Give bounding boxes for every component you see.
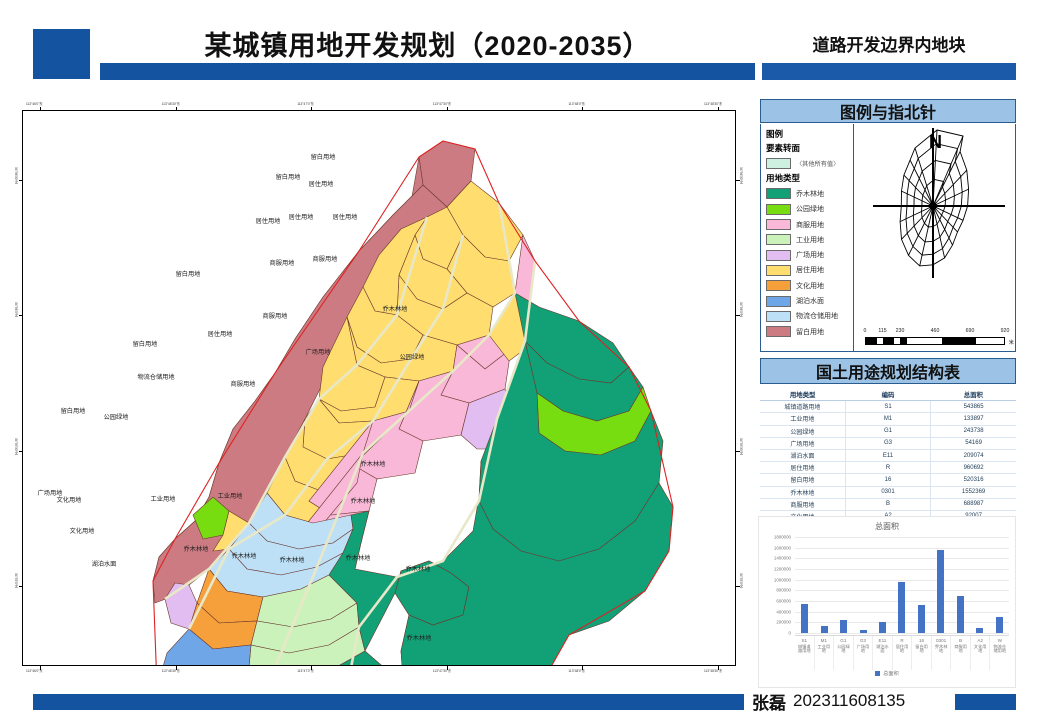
chart-xname: 物流仓储用地 bbox=[990, 645, 1009, 654]
chart-bar bbox=[879, 622, 886, 633]
chart-ytick-1: 1600000 bbox=[774, 545, 791, 550]
chart-xlabel-G3: G3广场用地 bbox=[854, 636, 874, 670]
grid-label-lon: 113°48'30"东 bbox=[704, 668, 722, 673]
scale-tick-labels: 0115230460690920 bbox=[865, 328, 1005, 337]
map-parcel-label: 商服用地 bbox=[263, 312, 288, 320]
grid-label-lon: 113°48'0"东 bbox=[568, 101, 585, 106]
chart-plot-area bbox=[795, 537, 1009, 633]
table-cell: G3 bbox=[845, 437, 930, 449]
map-parcel-label: 居住用地 bbox=[289, 213, 314, 221]
header-subtitle-bar bbox=[762, 63, 1016, 80]
chart-ytick-8: 200000 bbox=[776, 620, 791, 625]
chart-xcode: G1 bbox=[834, 638, 853, 643]
legend-label-1: 公园绿地 bbox=[796, 204, 824, 214]
chart-xlabel-B: B商服用地 bbox=[951, 636, 971, 670]
map-parcel-label: 文化用地 bbox=[57, 496, 82, 504]
legend-swatch-0 bbox=[766, 188, 791, 199]
map-parcel-label: 居住用地 bbox=[309, 180, 334, 188]
table-cell: 0301 bbox=[845, 486, 930, 498]
chart-bar bbox=[821, 626, 828, 633]
chart-ytick-0: 1800000 bbox=[774, 535, 791, 540]
scale-tick-3: 460 bbox=[931, 328, 940, 334]
chart-bar bbox=[801, 604, 808, 633]
table-cell: 209074 bbox=[931, 449, 1016, 461]
map-parcel-label: 文化用地 bbox=[70, 527, 95, 535]
footer-bar-right bbox=[955, 694, 1016, 710]
grid-label-lon: 113°46'30"东 bbox=[162, 101, 180, 106]
chart-xname: 乔木林地 bbox=[932, 645, 951, 654]
map-parcel-label: 留白用地 bbox=[276, 173, 301, 181]
chart-column-S1 bbox=[795, 537, 814, 633]
table-row: 工业用地M1133897 bbox=[760, 413, 1016, 425]
table-cell: 工业用地 bbox=[760, 413, 845, 425]
scale-tick-4: 690 bbox=[966, 328, 975, 334]
total-area-chart: 总面积 180000016000001400000120000010000008… bbox=[758, 516, 1016, 688]
chart-ytick-6: 600000 bbox=[776, 599, 791, 604]
table-body: 城镇道路用地S1543865工业用地M1133897公园绿地G1243738广场… bbox=[760, 401, 1016, 535]
legend-panel: 图例 要素转面 〈其他所有值〉 用地类型 乔木林地公园绿地商服用地工业用地广场用… bbox=[760, 124, 1016, 352]
grid-label-lat: 34°55'30"北 bbox=[739, 438, 744, 455]
chart-xcode: M1 bbox=[815, 638, 834, 643]
legend-label-3: 工业用地 bbox=[796, 235, 824, 245]
chart-bar bbox=[996, 617, 1003, 633]
table-row: 湖泊水面E11209074 bbox=[760, 449, 1016, 461]
map-parcel-label: 广场用地 bbox=[306, 348, 331, 356]
scale-tick-2: 230 bbox=[896, 328, 905, 334]
legend-item-4: 广场用地 bbox=[765, 247, 853, 262]
table-cell: 乔木林地 bbox=[760, 486, 845, 498]
chart-xname: 湖泊水面 bbox=[873, 645, 892, 654]
map-parcel-label: 乔木林地 bbox=[383, 305, 408, 313]
chart-legend-label: 总面积 bbox=[883, 670, 899, 677]
chart-xcode: S1 bbox=[795, 638, 814, 643]
legend-label-2: 商服用地 bbox=[796, 220, 824, 230]
chart-xlabel-E11: E11湖泊水面 bbox=[873, 636, 893, 670]
table-cell: S1 bbox=[845, 401, 930, 413]
chart-xname: 商服用地 bbox=[951, 645, 970, 654]
grid-label-lon: 113°47'30"东 bbox=[433, 668, 451, 673]
legend-swatch-4 bbox=[766, 250, 791, 261]
map-parcel-label: 留白用地 bbox=[311, 153, 336, 161]
chart-xcode: G3 bbox=[854, 638, 873, 643]
legend-item-5: 居住用地 bbox=[765, 263, 853, 278]
chart-xname: 工业用地 bbox=[815, 645, 834, 654]
scale-tick-0: 0 bbox=[864, 328, 867, 334]
structure-table: 用地类型编码总面积 城镇道路用地S1543865工业用地M1133897公园绿地… bbox=[760, 388, 1016, 535]
table-cell: 243738 bbox=[931, 425, 1016, 437]
chart-xlabel-G1: G1公园绿地 bbox=[834, 636, 854, 670]
table-row: 居住用地R960692 bbox=[760, 462, 1016, 474]
chart-ytick-2: 1400000 bbox=[774, 556, 791, 561]
chart-xlabel-0301: 0301乔木林地 bbox=[932, 636, 952, 670]
feature-heading: 要素转面 bbox=[766, 142, 853, 154]
legend-item-0: 乔木林地 bbox=[765, 186, 853, 201]
author-name: 张磊 bbox=[752, 689, 786, 714]
chart-xcode: B bbox=[951, 638, 970, 643]
legend-label-other: 〈其他所有值〉 bbox=[796, 159, 839, 168]
table-cell: 688987 bbox=[931, 498, 1016, 510]
table-cell: 520316 bbox=[931, 474, 1016, 486]
chart-column-B bbox=[951, 537, 970, 633]
table-cell: 居住用地 bbox=[760, 462, 845, 474]
legend-swatch-2 bbox=[766, 219, 791, 230]
map-parcel-label: 公园绿地 bbox=[400, 353, 425, 361]
chart-x-axis-labels: S1城镇道路用地M1工业用地G1公园绿地G3广场用地E11湖泊水面R居住用地16… bbox=[795, 635, 1009, 670]
legend-swatch-3 bbox=[766, 234, 791, 245]
chart-legend: 总面积 bbox=[759, 670, 1015, 677]
table-cell: B bbox=[845, 498, 930, 510]
chart-xlabel-W: W物流仓储用地 bbox=[990, 636, 1009, 670]
map-parcel-label: 居住用地 bbox=[256, 217, 281, 225]
grid-label-lon: 113°48'30"东 bbox=[704, 101, 722, 106]
table-cell: R bbox=[845, 462, 930, 474]
chart-xlabel-M1: M1工业用地 bbox=[815, 636, 835, 670]
grid-label-lon: 113°46'0"东 bbox=[26, 101, 43, 106]
chart-bar bbox=[860, 630, 867, 633]
table-row: 留白用地16520316 bbox=[760, 474, 1016, 486]
table-cell: 公园绿地 bbox=[760, 425, 845, 437]
table-cell: 城镇道路用地 bbox=[760, 401, 845, 413]
legend-swatch-other bbox=[766, 158, 791, 169]
chart-bar bbox=[840, 620, 847, 633]
map-parcel-label: 商服用地 bbox=[313, 255, 338, 263]
map-parcel-label: 乔木林地 bbox=[407, 634, 432, 642]
legend-heading: 图例 bbox=[766, 128, 853, 140]
scale-tick-5: 920 bbox=[1001, 328, 1010, 334]
chart-column-W bbox=[990, 537, 1009, 633]
legend-item-7: 湖泊水面 bbox=[765, 293, 853, 308]
chart-y-axis-labels: 1800000160000014000001200000100000080000… bbox=[759, 537, 793, 633]
chart-xcode: R bbox=[893, 638, 912, 643]
chart-ytick-4: 1000000 bbox=[774, 577, 791, 582]
legend-swatch-5 bbox=[766, 265, 791, 276]
chart-bar bbox=[898, 582, 905, 633]
map-frame[interactable]: 留白用地留白用地留白用地留白用地留白用地居住用地居住用地居住用地居住用地居住用地… bbox=[22, 110, 736, 666]
north-letter: N bbox=[929, 132, 942, 153]
map-parcel-label: 留白用地 bbox=[133, 340, 158, 348]
chart-column-0301 bbox=[931, 537, 950, 633]
map-parcel-label: 乔木林地 bbox=[346, 554, 371, 562]
legend-item-8: 物流仓储用地 bbox=[765, 309, 853, 324]
legend-swatch-1 bbox=[766, 204, 791, 215]
legend-item-3: 工业用地 bbox=[765, 232, 853, 247]
map-parcel-label: 乔木林地 bbox=[351, 497, 376, 505]
grid-label-lat: 34°55'30"北 bbox=[14, 438, 19, 455]
header-subtitle: 道路开发边界内地块 bbox=[762, 26, 1016, 60]
legend-panel-title: 图例与指北针 bbox=[760, 99, 1016, 123]
north-arrow-area: N 0115230460690920 米 bbox=[855, 124, 1015, 351]
legend-label-8: 物流仓储用地 bbox=[796, 311, 838, 321]
table-row: 广场用地G354169 bbox=[760, 437, 1016, 449]
chart-column-R bbox=[892, 537, 911, 633]
legend-label-0: 乔木林地 bbox=[796, 189, 824, 199]
legend-swatch-6 bbox=[766, 280, 791, 291]
chart-bar bbox=[976, 628, 983, 633]
chart-column-G3 bbox=[853, 537, 872, 633]
table-col-1: 编码 bbox=[845, 388, 930, 401]
chart-xcode: A2 bbox=[971, 638, 990, 643]
chart-ytick-7: 400000 bbox=[776, 609, 791, 614]
chart-column-G1 bbox=[834, 537, 853, 633]
scale-bar: 0115230460690920 米 bbox=[865, 328, 1005, 345]
grid-label-lat: 34°56'30"北 bbox=[739, 167, 744, 184]
student-id: 202311608135 bbox=[793, 691, 905, 711]
legend-swatch-7 bbox=[766, 296, 791, 307]
table-cell: G1 bbox=[845, 425, 930, 437]
grid-label-lat: 34°56'30"北 bbox=[14, 167, 19, 184]
table-cell: 16 bbox=[845, 474, 930, 486]
table-cell: 1552369 bbox=[931, 486, 1016, 498]
chart-column-16 bbox=[912, 537, 931, 633]
map-parcel-label: 乔木林地 bbox=[361, 460, 386, 468]
chart-xlabel-16: 16留白用地 bbox=[912, 636, 932, 670]
scale-bar-graphic bbox=[865, 337, 1005, 345]
legend-item-2: 商服用地 bbox=[765, 217, 853, 232]
table-row: 城镇道路用地S1543865 bbox=[760, 401, 1016, 413]
map-parcel-label: 居住用地 bbox=[208, 330, 233, 338]
chart-xcode: 16 bbox=[912, 638, 931, 643]
legend-item-feature: 〈其他所有值〉 bbox=[765, 156, 853, 171]
chart-bar bbox=[957, 596, 964, 633]
footer-bar-left bbox=[33, 694, 744, 710]
chart-ytick-5: 800000 bbox=[776, 588, 791, 593]
legend-swatch-9 bbox=[766, 326, 791, 337]
map-parcel-label: 乔木林地 bbox=[280, 556, 305, 564]
chart-column-M1 bbox=[814, 537, 833, 633]
legend-label-5: 居住用地 bbox=[796, 265, 824, 275]
header-accent-square bbox=[33, 29, 90, 79]
chart-xname: 广场用地 bbox=[854, 645, 873, 654]
chart-legend-swatch bbox=[875, 671, 880, 676]
map-parcel-label: 留白用地 bbox=[176, 270, 201, 278]
table-header-row: 用地类型编码总面积 bbox=[760, 388, 1016, 401]
legend-label-9: 留白用地 bbox=[796, 327, 824, 337]
chart-xname: 城镇道路用地 bbox=[795, 645, 814, 654]
chart-bar bbox=[918, 605, 925, 633]
map-parcel-label: 工业用地 bbox=[151, 495, 176, 503]
structure-table-wrap: 用地类型编码总面积 城镇道路用地S1543865工业用地M1133897公园绿地… bbox=[760, 388, 1016, 535]
table-col-2: 总面积 bbox=[931, 388, 1016, 401]
map-parcel-label: 留白用地 bbox=[61, 407, 86, 415]
legend-label-4: 广场用地 bbox=[796, 250, 824, 260]
chart-ytick-9: 0 bbox=[789, 631, 791, 636]
grid-label-lon: 113°46'30"东 bbox=[162, 668, 180, 673]
table-cell: 留白用地 bbox=[760, 474, 845, 486]
map-parcel-label: 居住用地 bbox=[333, 213, 358, 221]
chart-xname: 留白用地 bbox=[912, 645, 931, 654]
table-cell: 133897 bbox=[931, 413, 1016, 425]
grid-label-lon: 113°47'0"东 bbox=[297, 101, 314, 106]
table-cell: 54169 bbox=[931, 437, 1016, 449]
chart-xname: 居住用地 bbox=[893, 645, 912, 654]
table-cell: 960692 bbox=[931, 462, 1016, 474]
header-underline-bar bbox=[100, 63, 755, 80]
chart-xcode: 0301 bbox=[932, 638, 951, 643]
chart-ytick-3: 1200000 bbox=[774, 567, 791, 572]
table-cell: M1 bbox=[845, 413, 930, 425]
legend-label-6: 文化用地 bbox=[796, 281, 824, 291]
map-parcel-label: 公园绿地 bbox=[104, 413, 129, 421]
table-row: 商服用地B688987 bbox=[760, 498, 1016, 510]
map-parcel-label: 乔木林地 bbox=[232, 552, 257, 560]
chart-xcode: W bbox=[990, 638, 1009, 643]
map-parcel-label: 广场用地 bbox=[38, 489, 63, 497]
table-cell: 543865 bbox=[931, 401, 1016, 413]
table-cell: 湖泊水面 bbox=[760, 449, 845, 461]
chart-column-E11 bbox=[873, 537, 892, 633]
structure-table-title: 国土用途规划结构表 bbox=[760, 358, 1016, 384]
landuse-map[interactable]: 留白用地留白用地留白用地留白用地留白用地居住用地居住用地居住用地居住用地居住用地… bbox=[23, 111, 735, 665]
chart-bars bbox=[795, 537, 1009, 633]
chart-xlabel-R: R居住用地 bbox=[893, 636, 913, 670]
legend-item-9: 留白用地 bbox=[765, 324, 853, 339]
chart-title: 总面积 bbox=[759, 517, 1015, 532]
page-title: 某城镇用地开发规划（2020-2035） bbox=[100, 22, 755, 64]
map-parcel-label: 商服用地 bbox=[231, 380, 256, 388]
grid-label-lon: 113°47'30"东 bbox=[433, 101, 451, 106]
landuse-heading: 用地类型 bbox=[766, 172, 853, 184]
legend-item-1: 公园绿地 bbox=[765, 202, 853, 217]
legend-label-7: 湖泊水面 bbox=[796, 296, 824, 306]
footer-credit: 张磊 202311608135 bbox=[752, 688, 952, 714]
table-cell: 广场用地 bbox=[760, 437, 845, 449]
table-col-0: 用地类型 bbox=[760, 388, 845, 401]
map-parcel-label: 工业用地 bbox=[218, 492, 243, 500]
map-parcel-label: 乔木林地 bbox=[406, 565, 431, 573]
table-row: 公园绿地G1243738 bbox=[760, 425, 1016, 437]
table-cell: 商服用地 bbox=[760, 498, 845, 510]
chart-xlabel-S1: S1城镇道路用地 bbox=[795, 636, 815, 670]
map-panel[interactable]: 113°46'0"东113°46'0"东113°46'30"东113°46'30… bbox=[12, 96, 747, 684]
legend-list: 图例 要素转面 〈其他所有值〉 用地类型 乔木林地公园绿地商服用地工业用地广场用… bbox=[761, 124, 854, 351]
legend-item-6: 文化用地 bbox=[765, 278, 853, 293]
chart-xlabel-A2: A2文化用地 bbox=[971, 636, 991, 670]
scale-unit-label: 米 bbox=[1009, 339, 1014, 346]
chart-column-A2 bbox=[970, 537, 989, 633]
chart-xname: 文化用地 bbox=[971, 645, 990, 654]
map-parcel-label: 商服用地 bbox=[270, 259, 295, 267]
legend-items-container: 乔木林地公园绿地商服用地工业用地广场用地居住用地文化用地湖泊水面物流仓储用地留白… bbox=[765, 186, 853, 339]
legend-swatch-8 bbox=[766, 311, 791, 322]
map-parcel-label: 乔木林地 bbox=[184, 545, 209, 553]
table-cell: E11 bbox=[845, 449, 930, 461]
scale-tick-1: 115 bbox=[878, 328, 886, 334]
map-parcel-label: 物流仓储用地 bbox=[137, 373, 174, 381]
chart-bar bbox=[937, 550, 944, 633]
map-parcel-label: 湖泊水面 bbox=[92, 560, 117, 568]
chart-xname: 公园绿地 bbox=[834, 645, 853, 654]
chart-xcode: E11 bbox=[873, 638, 892, 643]
table-row: 乔木林地03011552369 bbox=[760, 486, 1016, 498]
